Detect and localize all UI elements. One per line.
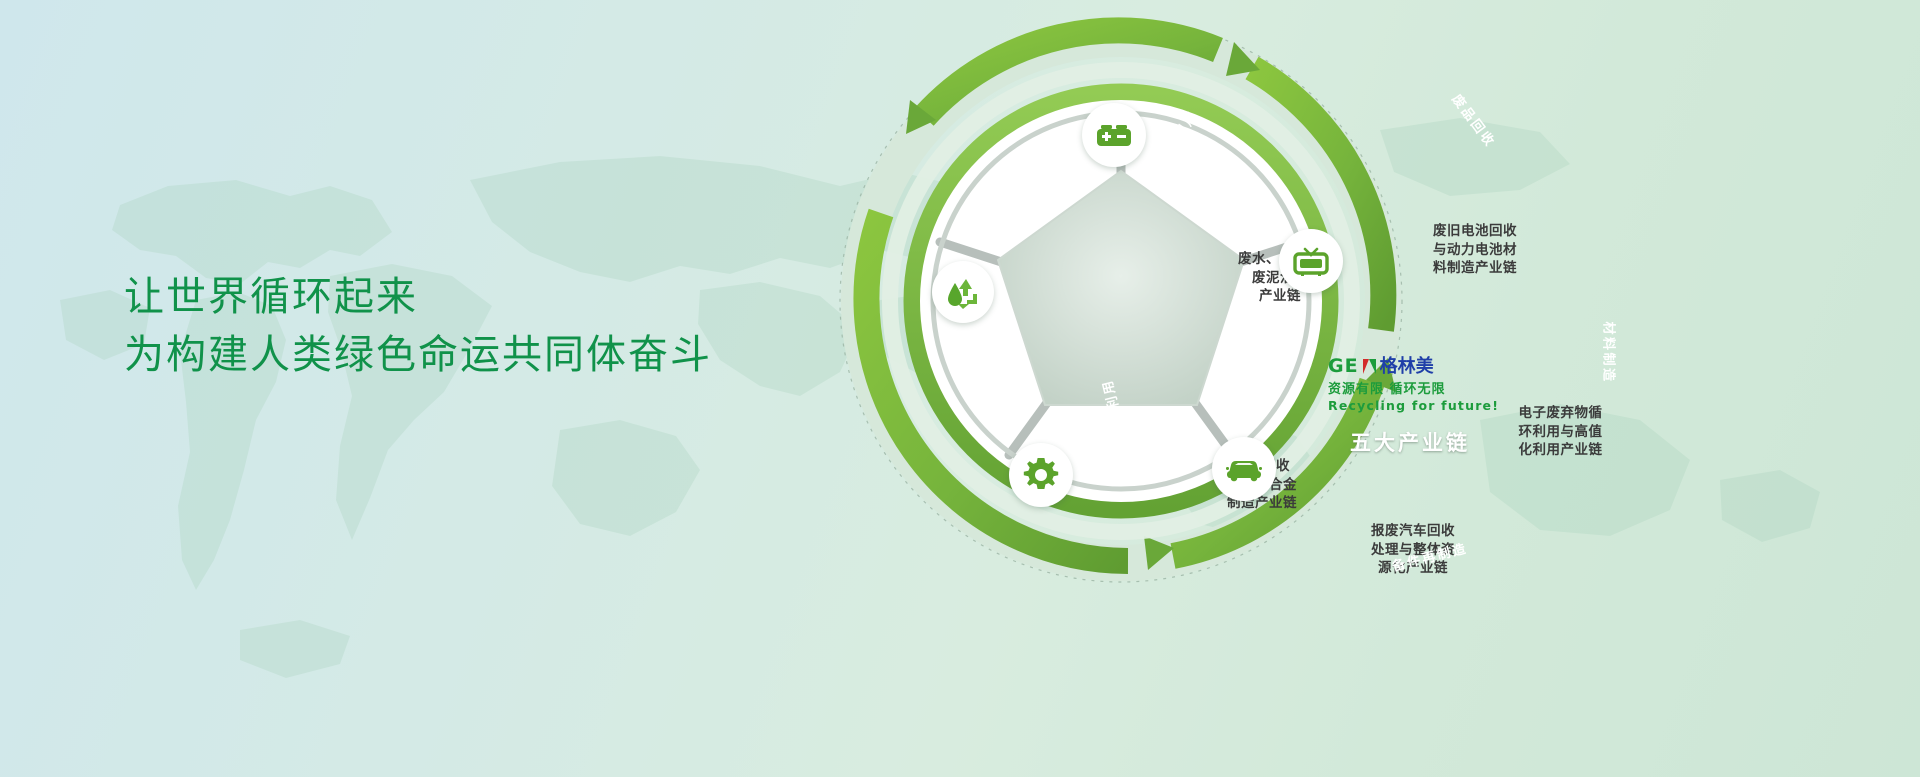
- battery-icon: [1096, 121, 1132, 149]
- gem-logo: GE 格林美 资源有限 循环无限 Recycling for future! 五…: [1328, 356, 1518, 457]
- center-label-five-chains: 五大产业链: [1350, 427, 1518, 457]
- logo-slogan-en: Recycling for future!: [1328, 398, 1518, 413]
- battery-icon-bubble: [1082, 103, 1146, 167]
- television-icon: [1293, 245, 1329, 277]
- headline-line-2: 为构建人类绿色命运共同体奋斗: [124, 326, 712, 384]
- television-icon-bubble: [1279, 229, 1343, 293]
- logo-latin-text: GE: [1328, 357, 1359, 376]
- recycle-water-icon-bubble: [932, 261, 994, 323]
- car-icon-bubble: [1212, 437, 1276, 501]
- gear-icon: [1023, 457, 1059, 493]
- logo-m-mark-icon: [1363, 359, 1376, 374]
- logo-wordmark-row: GE 格林美: [1328, 356, 1518, 376]
- wedge-label-battery-recycle: 废旧电池回收 与动力电池材 料制造产业链: [1400, 222, 1550, 278]
- gear-icon-bubble: [1009, 443, 1073, 507]
- car-icon: [1225, 456, 1263, 482]
- ring-label-material-making: 材料制造: [1601, 322, 1620, 384]
- headline-block: 让世界循环起来 为构建人类绿色命运共同体奋斗: [124, 268, 712, 384]
- logo-chinese-name: 格林美: [1380, 357, 1434, 376]
- recycle-water-icon: [944, 274, 982, 310]
- headline-line-1: 让世界循环起来: [124, 268, 712, 326]
- logo-slogan-cn: 资源有限 循环无限: [1328, 378, 1518, 397]
